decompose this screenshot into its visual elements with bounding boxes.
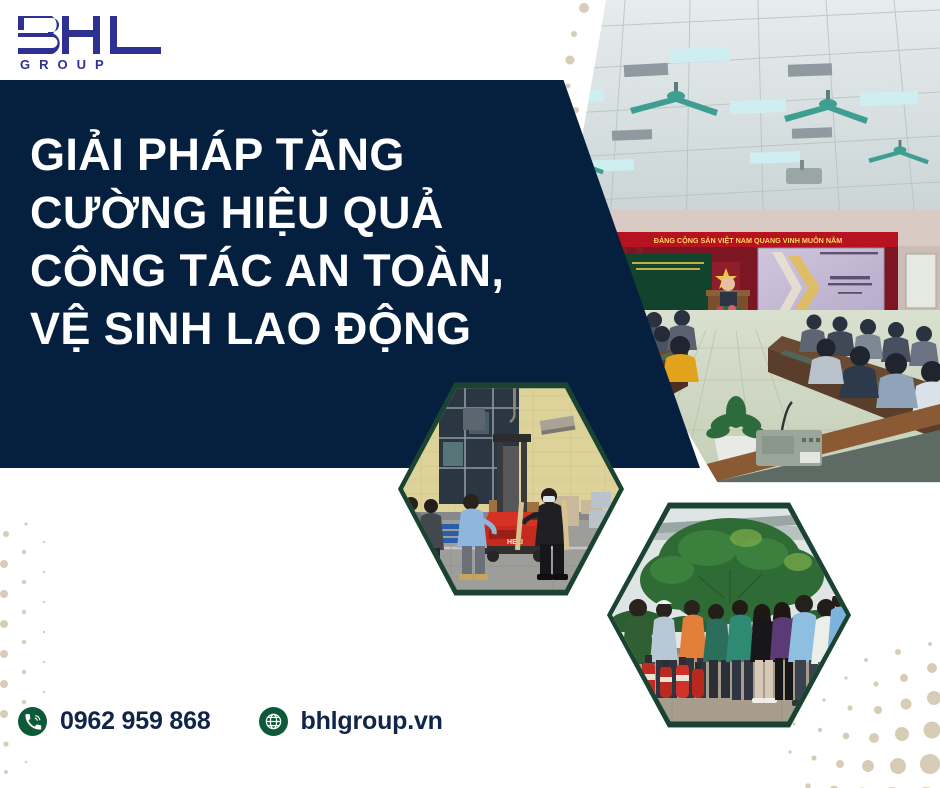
fire-safety-drill-illustration [612, 504, 846, 726]
page-title: GIẢI PHÁP TĂNG CƯỜNG HIỆU QUẢ CÔNG TÁC A… [30, 126, 530, 358]
logo-subtext: GROUP [20, 57, 176, 72]
globe-icon [259, 707, 288, 736]
headline-line-1: GIẢI PHÁP TĂNG [30, 126, 530, 184]
headline-line-3: CÔNG TÁC AN TOÀN, [30, 242, 530, 300]
phone-icon [18, 707, 47, 736]
contact-phone[interactable]: 0962 959 868 [18, 707, 211, 736]
hex-photo-fire-safety-drill [607, 498, 851, 732]
headline-line-2: CƯỜNG HIỆU QUẢ [30, 184, 530, 242]
brand-logo[interactable]: GROUP [16, 14, 176, 76]
bhl-logomark [16, 14, 164, 56]
phone-number: 0962 959 868 [60, 707, 211, 736]
headline-line-4: VỆ SINH LAO ĐỘNG [30, 300, 530, 358]
website-url: bhlgroup.vn [301, 707, 443, 736]
hall-banner-text: ĐẢNG CỘNG SẢN VIỆT NAM QUANG VINH MUÔN N… [654, 236, 842, 245]
hex-photo-inner-fire [612, 504, 846, 726]
contact-website[interactable]: bhlgroup.vn [259, 707, 443, 736]
footer-contacts: 0962 959 868 bhlgroup.vn [18, 707, 443, 736]
poster-root: ĐẢNG CỘNG SẢN VIỆT NAM QUANG VINH MUÔN N… [0, 0, 940, 788]
dot-pattern-left [0, 520, 60, 788]
